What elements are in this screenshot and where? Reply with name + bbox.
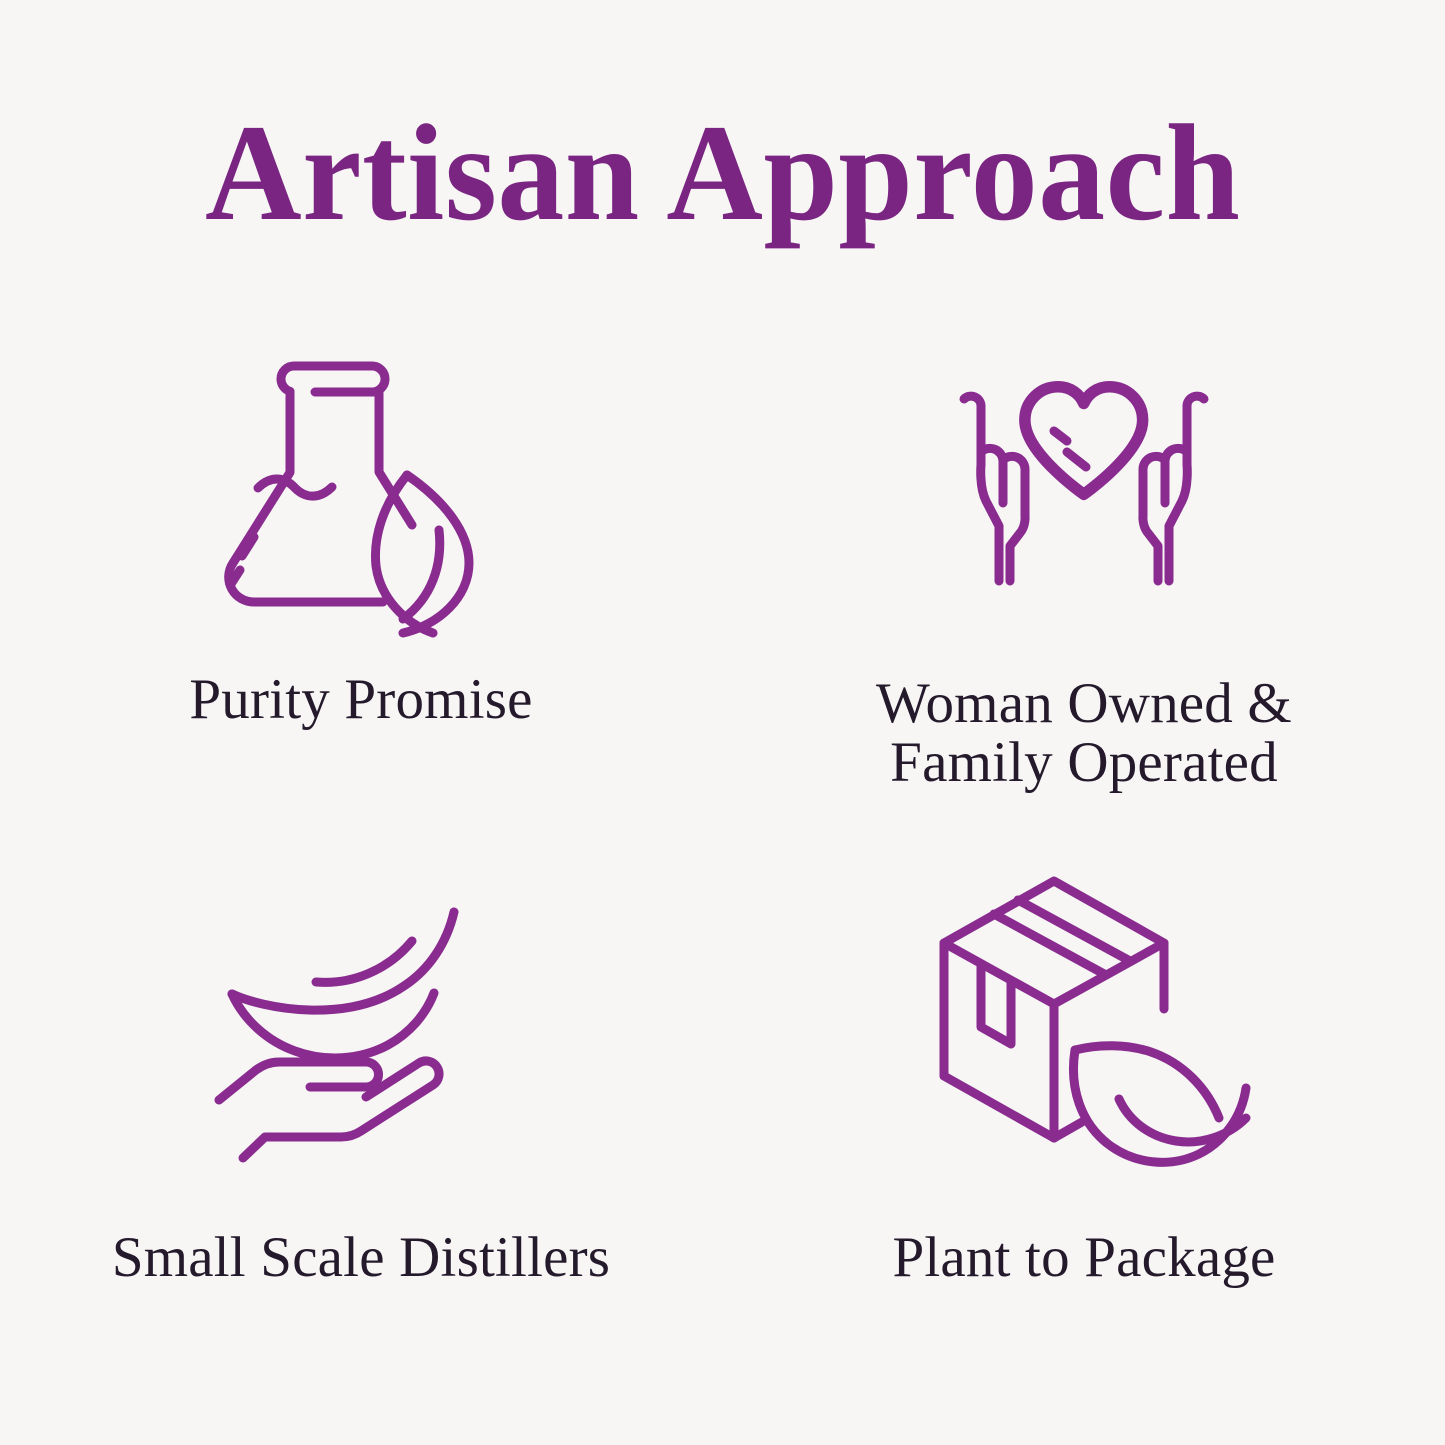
- feature-item-plant-to-package: Plant to Package: [723, 848, 1445, 1368]
- feature-item-small-scale-distillers: Small Scale Distillers: [0, 848, 722, 1368]
- page-title-wrapper: Artisan Approach: [0, 104, 1445, 242]
- page-title: Artisan Approach: [205, 104, 1240, 242]
- hand-holding-leaf-icon: [211, 890, 511, 1190]
- feature-caption: Small Scale Distillers: [112, 1228, 610, 1287]
- feature-item-purity-promise: Purity Promise: [0, 330, 722, 850]
- feature-grid: Purity Promise: [0, 330, 1445, 1370]
- flask-leaf-icon: [211, 342, 511, 642]
- feature-caption: Woman Owned & Family Operated: [876, 674, 1292, 793]
- feature-item-woman-owned: Woman Owned & Family Operated: [723, 330, 1445, 850]
- box-leaf-icon: [934, 876, 1234, 1176]
- feature-caption: Plant to Package: [892, 1228, 1275, 1287]
- artisan-approach-infographic: Artisan Approach: [0, 0, 1445, 1445]
- feature-caption: Purity Promise: [189, 670, 532, 729]
- hands-holding-heart-icon: [934, 348, 1234, 648]
